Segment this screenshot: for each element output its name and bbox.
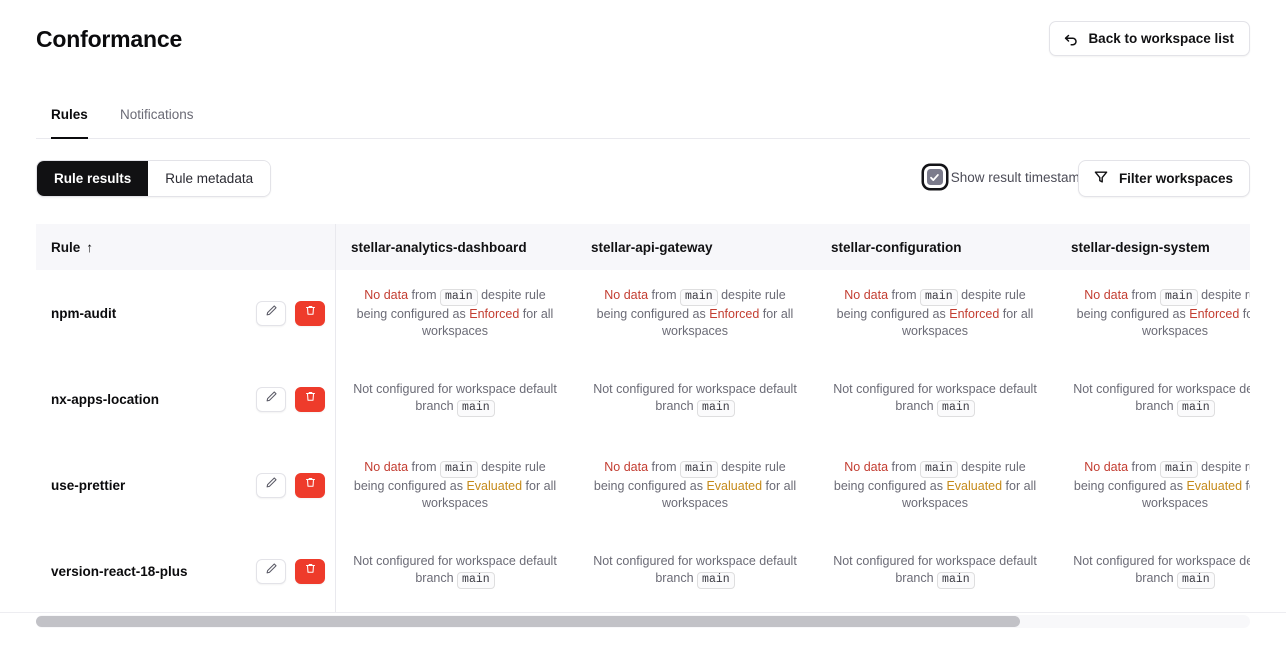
row-actions bbox=[256, 301, 325, 326]
rule-name: version-react-18-plus bbox=[51, 564, 188, 579]
branch-code-badge: main bbox=[697, 572, 735, 589]
delete-rule-button[interactable] bbox=[295, 387, 325, 412]
result-cell: No data from main despite rule being con… bbox=[1055, 270, 1250, 356]
rule-cell: npm-audit bbox=[36, 270, 335, 356]
rule-status-label: Enforced bbox=[949, 307, 999, 321]
branch-code-badge: main bbox=[1160, 289, 1198, 306]
cell-status-text: Not configured for workspace default bra… bbox=[351, 553, 559, 589]
table-row: version-react-18-plusNot configured for … bbox=[36, 528, 1250, 612]
no-data-label: No data bbox=[604, 288, 648, 302]
cell-status-text: No data from main despite rule being con… bbox=[1071, 459, 1250, 511]
rule-name: npm-audit bbox=[51, 306, 116, 321]
rule-name: nx-apps-location bbox=[51, 392, 159, 407]
filter-workspaces-button[interactable]: Filter workspaces bbox=[1078, 160, 1250, 197]
column-header-workspace[interactable]: stellar-analytics-dashboard bbox=[335, 224, 575, 270]
delete-rule-button[interactable] bbox=[295, 473, 325, 498]
branch-code-badge: main bbox=[697, 400, 735, 417]
column-header-workspace[interactable]: stellar-api-gateway bbox=[575, 224, 815, 270]
cell-status-text: Not configured for workspace default bra… bbox=[831, 553, 1039, 589]
result-cell: Not configured for workspace default bra… bbox=[575, 356, 815, 442]
rule-status-label: Enforced bbox=[709, 307, 759, 321]
no-data-label: No data bbox=[844, 288, 888, 302]
segment-rule-metadata[interactable]: Rule metadata bbox=[148, 161, 270, 196]
table-row: npm-auditNo data from main despite rule … bbox=[36, 270, 1250, 356]
table-header-row: Rule ↑ stellar-analytics-dashboard stell… bbox=[36, 224, 1250, 270]
back-to-workspace-list-button[interactable]: Back to workspace list bbox=[1049, 21, 1250, 56]
row-actions bbox=[256, 387, 325, 412]
show-result-timestamps-label: Show result timestamps bbox=[951, 170, 1094, 185]
cell-status-text: Not configured for workspace default bra… bbox=[1071, 553, 1250, 589]
pencil-icon bbox=[265, 476, 278, 494]
result-cell: No data from main despite rule being con… bbox=[575, 442, 815, 528]
trash-icon bbox=[304, 562, 317, 580]
result-cell: Not configured for workspace default bra… bbox=[1055, 356, 1250, 442]
frozen-column-divider bbox=[335, 224, 336, 612]
no-data-label: No data bbox=[604, 460, 648, 474]
no-data-label: No data bbox=[1084, 288, 1128, 302]
table-row: use-prettierNo data from main despite ru… bbox=[36, 442, 1250, 528]
branch-code-badge: main bbox=[680, 461, 718, 478]
result-cell: No data from main despite rule being con… bbox=[815, 270, 1055, 356]
rule-name: use-prettier bbox=[51, 478, 125, 493]
branch-code-badge: main bbox=[920, 289, 958, 306]
edit-rule-button[interactable] bbox=[256, 473, 286, 498]
edit-rule-button[interactable] bbox=[256, 559, 286, 584]
branch-code-badge: main bbox=[440, 461, 478, 478]
edit-rule-button[interactable] bbox=[256, 301, 286, 326]
trash-icon bbox=[304, 304, 317, 322]
pencil-icon bbox=[265, 304, 278, 322]
cell-status-text: Not configured for workspace default bra… bbox=[1071, 381, 1250, 417]
pencil-icon bbox=[265, 390, 278, 408]
branch-code-badge: main bbox=[920, 461, 958, 478]
cell-status-text: No data from main despite rule being con… bbox=[591, 287, 799, 339]
filter-workspaces-label: Filter workspaces bbox=[1119, 171, 1233, 186]
table-row: nx-apps-locationNot configured for works… bbox=[36, 356, 1250, 442]
show-result-timestamps-control: Show result timestamps bbox=[927, 169, 1094, 185]
arrow-uturn-left-icon bbox=[1063, 31, 1079, 47]
rule-cell: version-react-18-plus bbox=[36, 528, 335, 612]
rule-status-label: Evaluated bbox=[1186, 479, 1242, 493]
rule-cell: nx-apps-location bbox=[36, 356, 335, 442]
branch-code-badge: main bbox=[680, 289, 718, 306]
no-data-label: No data bbox=[364, 460, 408, 474]
result-cell: No data from main despite rule being con… bbox=[815, 442, 1055, 528]
cell-status-text: No data from main despite rule being con… bbox=[831, 287, 1039, 339]
branch-code-badge: main bbox=[1177, 572, 1215, 589]
table-body: npm-auditNo data from main despite rule … bbox=[36, 270, 1250, 612]
show-result-timestamps-checkbox[interactable] bbox=[927, 169, 943, 185]
column-header-workspace[interactable]: stellar-configuration bbox=[815, 224, 1055, 270]
edit-rule-button[interactable] bbox=[256, 387, 286, 412]
sort-ascending-icon: ↑ bbox=[86, 240, 93, 255]
branch-code-badge: main bbox=[937, 400, 975, 417]
branch-code-badge: main bbox=[1177, 400, 1215, 417]
branch-code-badge: main bbox=[440, 289, 478, 306]
result-cell: Not configured for workspace default bra… bbox=[815, 528, 1055, 612]
result-cell: Not configured for workspace default bra… bbox=[335, 528, 575, 612]
result-cell: No data from main despite rule being con… bbox=[335, 442, 575, 528]
view-mode-segmented-control: Rule results Rule metadata bbox=[36, 160, 271, 197]
cell-status-text: No data from main despite rule being con… bbox=[351, 459, 559, 511]
rule-status-label: Evaluated bbox=[466, 479, 522, 493]
result-cell: Not configured for workspace default bra… bbox=[335, 356, 575, 442]
trash-icon bbox=[304, 476, 317, 494]
result-cell: Not configured for workspace default bra… bbox=[575, 528, 815, 612]
branch-code-badge: main bbox=[457, 572, 495, 589]
pencil-icon bbox=[265, 562, 278, 580]
no-data-label: No data bbox=[364, 288, 408, 302]
result-cell: No data from main despite rule being con… bbox=[575, 270, 815, 356]
conformance-page: Conformance Back to workspace list Rules… bbox=[0, 0, 1286, 667]
rule-status-label: Enforced bbox=[469, 307, 519, 321]
cell-status-text: Not configured for workspace default bra… bbox=[351, 381, 559, 417]
result-cell: Not configured for workspace default bra… bbox=[1055, 528, 1250, 612]
cell-status-text: No data from main despite rule being con… bbox=[351, 287, 559, 339]
segment-rule-results[interactable]: Rule results bbox=[37, 161, 148, 196]
tab-bar: Rules Notifications bbox=[36, 107, 1250, 139]
toolbar: Rule results Rule metadata Show result t… bbox=[0, 160, 1286, 200]
no-data-label: No data bbox=[844, 460, 888, 474]
funnel-icon bbox=[1093, 169, 1109, 188]
result-cell: No data from main despite rule being con… bbox=[335, 270, 575, 356]
column-header-workspace[interactable]: stellar-design-system bbox=[1055, 224, 1250, 270]
result-cell: Not configured for workspace default bra… bbox=[815, 356, 1055, 442]
cell-status-text: Not configured for workspace default bra… bbox=[591, 553, 799, 589]
cell-status-text: No data from main despite rule being con… bbox=[1071, 287, 1250, 339]
tab-notifications[interactable]: Notifications bbox=[120, 107, 194, 139]
horizontal-scrollbar-thumb[interactable] bbox=[36, 616, 1020, 627]
back-button-label: Back to workspace list bbox=[1088, 31, 1234, 46]
column-header-rule-label: Rule bbox=[51, 240, 80, 255]
horizontal-scrollbar[interactable] bbox=[36, 615, 1250, 628]
cell-status-text: Not configured for workspace default bra… bbox=[831, 381, 1039, 417]
table-bottom-divider bbox=[0, 612, 1286, 613]
cell-status-text: No data from main despite rule being con… bbox=[591, 459, 799, 511]
cell-status-text: Not configured for workspace default bra… bbox=[591, 381, 799, 417]
no-data-label: No data bbox=[1084, 460, 1128, 474]
cell-status-text: No data from main despite rule being con… bbox=[831, 459, 1039, 511]
delete-rule-button[interactable] bbox=[295, 559, 325, 584]
page-header: Conformance Back to workspace list bbox=[0, 0, 1286, 78]
branch-code-badge: main bbox=[1160, 461, 1198, 478]
rules-table: Rule ↑ stellar-analytics-dashboard stell… bbox=[36, 224, 1250, 612]
page-title: Conformance bbox=[36, 26, 182, 53]
trash-icon bbox=[304, 390, 317, 408]
result-cell: No data from main despite rule being con… bbox=[1055, 442, 1250, 528]
column-header-rule[interactable]: Rule ↑ bbox=[36, 224, 335, 270]
rule-status-label: Evaluated bbox=[706, 479, 762, 493]
branch-code-badge: main bbox=[937, 572, 975, 589]
delete-rule-button[interactable] bbox=[295, 301, 325, 326]
rule-cell: use-prettier bbox=[36, 442, 335, 528]
branch-code-badge: main bbox=[457, 400, 495, 417]
rule-status-label: Enforced bbox=[1189, 307, 1239, 321]
row-actions bbox=[256, 473, 325, 498]
tab-rules[interactable]: Rules bbox=[51, 107, 88, 139]
row-actions bbox=[256, 559, 325, 584]
rule-status-label: Evaluated bbox=[946, 479, 1002, 493]
